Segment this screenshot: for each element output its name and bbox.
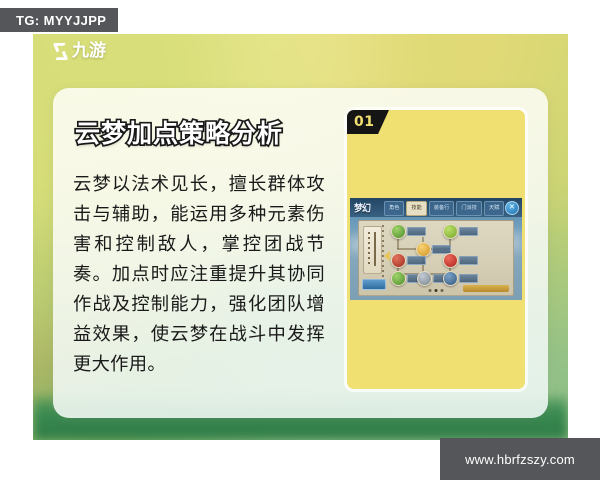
telegram-tag-text: TG: MYYJJPP [16,13,106,28]
game-logo-text: 梦幻 [354,200,370,214]
page-title: 云梦加点策略分析 [75,114,283,150]
skill-node-4-icon [391,253,406,268]
game-close-icon[interactable]: ✕ [505,201,519,215]
skill-node-1[interactable] [391,224,426,239]
skill-node-4[interactable] [391,253,426,268]
game-tab-2[interactable]: 装备行 [429,201,455,216]
brand-logo: 九游 [52,42,106,61]
skill-node-2-icon [443,224,458,239]
game-page-dot-1[interactable] [429,289,432,292]
game-tab-1[interactable]: 技能 [406,201,426,216]
illustration-card: 01 梦幻 角色 技能 装备行 门派技 天赋 ✕ [347,110,525,389]
skill-node-2[interactable] [443,224,478,239]
content-card: 云梦加点策略分析 云梦以法术见长，擅长群体攻击与辅助，能运用多种元素伤害和控制敌… [53,88,548,418]
game-page-dot-3[interactable] [441,289,444,292]
skill-node-8[interactable] [443,271,478,286]
body-paragraph: 云梦以法术见长，擅长群体攻击与辅助，能运用多种元素伤害和控制敌人，掌控团战节奏。… [73,170,325,380]
brand-logo-text: 九游 [72,42,106,61]
game-page-dots[interactable] [429,289,444,292]
game-tab-bar[interactable]: 角色 技能 装备行 门派技 天赋 [384,201,504,216]
step-badge-number: 01 [354,114,374,130]
game-page-dot-2[interactable] [435,289,438,292]
watermark-bar: www.hbrfzszy.com [440,438,600,480]
skill-node-1-icon [391,224,406,239]
watermark-text: www.hbrfzszy.com [465,452,575,467]
game-tab-0[interactable]: 角色 [384,201,404,216]
step-badge: 01 [347,110,389,134]
skill-node-5[interactable] [443,253,478,268]
game-skill-tree-board [358,220,514,296]
skill-node-8-label [459,274,478,283]
skill-node-1-label [407,227,426,236]
telegram-tag: TG: MYYJJPP [0,8,118,32]
lightning-bolt-icon [52,42,69,61]
skill-node-5-icon [443,253,458,268]
skill-node-8-icon [443,271,458,286]
skill-node-7-icon [417,271,432,286]
skill-node-5-label [459,256,478,265]
skill-node-4-label [407,256,426,265]
skill-node-2-label [459,227,478,236]
game-bottom-status-bar [463,285,509,292]
game-tab-3[interactable]: 门派技 [456,201,482,216]
game-tab-4[interactable]: 天赋 [484,201,504,216]
game-screenshot: 梦幻 角色 技能 装备行 门派技 天赋 ✕ [350,198,522,300]
skill-node-6-icon [391,271,406,286]
